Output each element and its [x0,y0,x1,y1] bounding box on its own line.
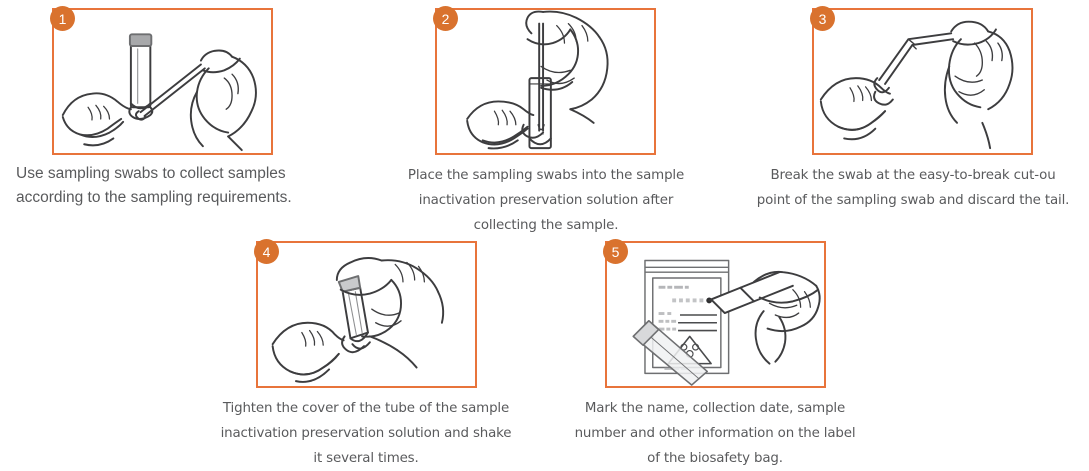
step-1-caption: Use sampling swabs to collect samples ac… [16,162,336,210]
step-3-number-badge: 3 [810,6,835,31]
illustration-label-biosafety-bag [607,243,824,386]
step-2-number: 2 [442,12,450,26]
instruction-diagram: 1 Use sampling swabs to collect samples … [0,0,1089,465]
step-3-caption: Break the swab at the easy-to-break cut-… [737,163,1089,213]
step-3-number: 3 [819,12,827,26]
illustration-swab-into-tube [437,10,654,153]
step-1-number: 1 [59,12,67,26]
illustration-breaking-swab [814,10,1031,153]
illustration-tighten-cap [258,243,475,386]
step-3-illustration-frame [812,8,1033,155]
step-4-caption: Tighten the cover of the tube of the sam… [190,396,542,471]
step-1-illustration-frame [52,8,273,155]
step-4-number-badge: 4 [254,239,279,264]
step-4-number: 4 [263,245,271,259]
step-2-number-badge: 2 [433,6,458,31]
step-5-caption: Mark the name, collection date, sample n… [539,396,891,471]
step-4-illustration-frame [256,241,477,388]
step-2-caption: Place the sampling swabs into the sample… [370,163,722,238]
step-1-number-badge: 1 [50,6,75,31]
step-2-illustration-frame [435,8,656,155]
step-5-number-badge: 5 [603,239,628,264]
step-5-illustration-frame [605,241,826,388]
step-5-number: 5 [612,245,620,259]
illustration-hand-tube-swab [54,10,271,153]
